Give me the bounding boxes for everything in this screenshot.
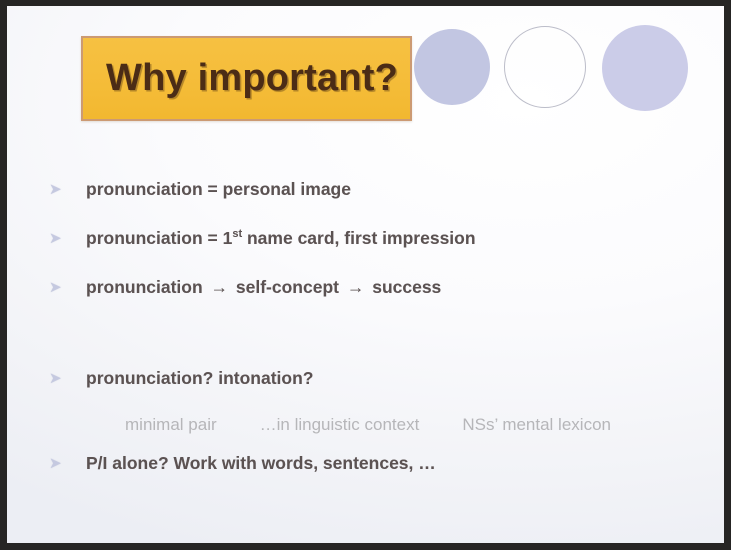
bullet-item-2: ➤ pronunciation = 1st name card, first i…	[7, 227, 724, 255]
bullet-item-2-text-a: pronunciation = 1	[86, 228, 232, 248]
bullet-arrow-icon: ➤	[49, 229, 71, 249]
bullet-item-3-text-c: success	[367, 277, 441, 297]
slide-body: ➤ pronunciation = personal image ➤ pronu…	[7, 156, 724, 480]
bullet-item-5-text: P/I alone? Work with words, sentences, …	[86, 453, 436, 473]
sub-line-item-2: …in linguistic context	[260, 415, 420, 435]
bullet-item-3: ➤ pronunciation → self-concept → success	[7, 276, 724, 304]
right-arrow-icon: →	[208, 277, 232, 297]
bullet-arrow-icon: ➤	[49, 454, 71, 474]
sub-line-item-1: minimal pair	[125, 415, 217, 435]
bullet-item-4: ➤ pronunciation? intonation?	[7, 367, 724, 395]
slide-title-box: Why important?	[81, 36, 412, 121]
circle-filled-right-icon	[602, 25, 688, 111]
bullet-item-4-text: pronunciation? intonation?	[86, 368, 313, 388]
bullet-item-5: ➤ P/I alone? Work with words, sentences,…	[7, 452, 724, 480]
bullet-item-1: ➤ pronunciation = personal image	[7, 178, 724, 206]
slide-outer-frame: Why important? ➤ pronunciation = persona…	[0, 0, 731, 550]
slide-canvas: Why important? ➤ pronunciation = persona…	[7, 6, 724, 543]
page-title: Why important?	[83, 57, 398, 100]
bullet-arrow-icon: ➤	[49, 369, 71, 389]
sub-line-row: minimal pair …in linguistic context NSs’…	[7, 415, 724, 435]
bullet-item-2-label: pronunciation = 1st name card, first imp…	[7, 227, 476, 249]
bullet-item-1-text: pronunciation = personal image	[86, 179, 351, 199]
bullet-item-3-label: pronunciation → self-concept → success	[7, 276, 441, 298]
sub-line-item-3: NSs’ mental lexicon	[462, 415, 611, 435]
bullet-arrow-icon: ➤	[49, 180, 71, 200]
bullet-item-2-text-b: name card, first impression	[242, 228, 475, 248]
circle-filled-left-icon	[414, 29, 490, 105]
bullet-item-3-text-b: self-concept	[231, 277, 344, 297]
bullet-item-2-superscript: st	[232, 228, 242, 240]
bullet-item-3-text-a: pronunciation	[86, 277, 208, 297]
bullet-arrow-icon: ➤	[49, 278, 71, 298]
circle-outline-middle-icon	[504, 26, 586, 108]
right-arrow-icon: →	[344, 277, 368, 297]
bullet-item-5-label: P/I alone? Work with words, sentences, …	[7, 452, 436, 474]
